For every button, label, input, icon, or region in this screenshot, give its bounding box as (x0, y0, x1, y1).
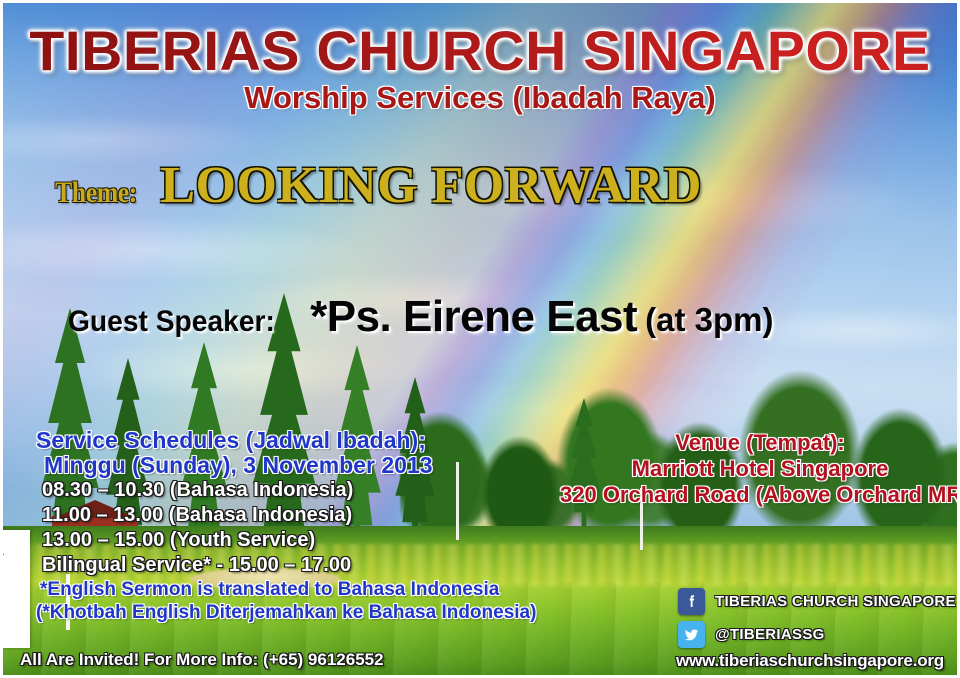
venue-name: Marriott Hotel Singapore (560, 456, 960, 482)
service-time-row: 13.00 – 15.00 (Youth Service) (36, 528, 536, 553)
schedule-heading-line2: Minggu (Sunday), 3 November 2013 (36, 453, 536, 478)
service-time-row: 08.30 – 10.30 (Bahasa Indonesia) (36, 478, 536, 503)
service-schedule-block: Service Schedules (Jadwal Ibadah); Mingg… (36, 428, 536, 624)
facebook-icon[interactable] (678, 588, 705, 615)
event-poster: TIBERIAS CHURCH SINGAPORE Worship Servic… (0, 0, 960, 678)
wave-icon (0, 552, 4, 557)
poster-subtitle: Worship Services (Ibadah Raya) (0, 80, 960, 116)
schedule-heading-line1: Service Schedules (Jadwal Ibadah); (36, 428, 536, 453)
venue-block: Venue (Tempat): Marriott Hotel Singapore… (560, 430, 960, 508)
twitter-icon[interactable] (678, 621, 705, 648)
poster-title: TIBERIAS CHURCH SINGAPORE (0, 18, 960, 83)
venue-address: 320 Orchard Road (Above Orchard MRT) (560, 482, 960, 508)
theme-label: Theme: (55, 176, 137, 210)
partial-logo-banner: O (0, 530, 30, 648)
venue-label: Venue (Tempat): (560, 430, 960, 456)
contact-info: All Are Invited! For More Info: (+65) 96… (20, 650, 384, 670)
facebook-row[interactable]: TIBERIAS CHURCH SINGAPORE (678, 586, 956, 616)
schedule-note-indonesian: (*Khotbah English Diterjemahkan ke Bahas… (36, 601, 536, 624)
service-time-row: 11.00 – 13.00 (Bahasa Indonesia) (36, 503, 536, 528)
facebook-handle: TIBERIAS CHURCH SINGAPORE (715, 593, 956, 610)
wave-icon (0, 560, 2, 564)
guest-speaker-time: (at 3pm) (645, 301, 773, 339)
guest-speaker-row: Guest Speaker: *Ps. Eirene East (at 3pm) (68, 292, 774, 342)
service-time-row: Bilingual Service* - 15.00 – 17.00 (36, 553, 536, 578)
sun-icon (0, 536, 2, 550)
twitter-row[interactable]: @TIBERIASSG (678, 619, 956, 649)
guest-speaker-label: Guest Speaker: (68, 305, 275, 339)
guest-speaker-name: *Ps. Eirene East (310, 292, 637, 342)
website-url[interactable]: www.tiberiaschurchsingapore.org (676, 651, 944, 671)
twitter-handle: @TIBERIASSG (715, 626, 825, 643)
theme-value: LOOKING FORWARD (160, 156, 702, 215)
social-links: TIBERIAS CHURCH SINGAPORE @TIBERIASSG (678, 586, 956, 649)
theme-row: Theme: LOOKING FORWARD (55, 156, 702, 215)
schedule-note-english: *English Sermon is translated to Bahasa … (36, 578, 536, 601)
